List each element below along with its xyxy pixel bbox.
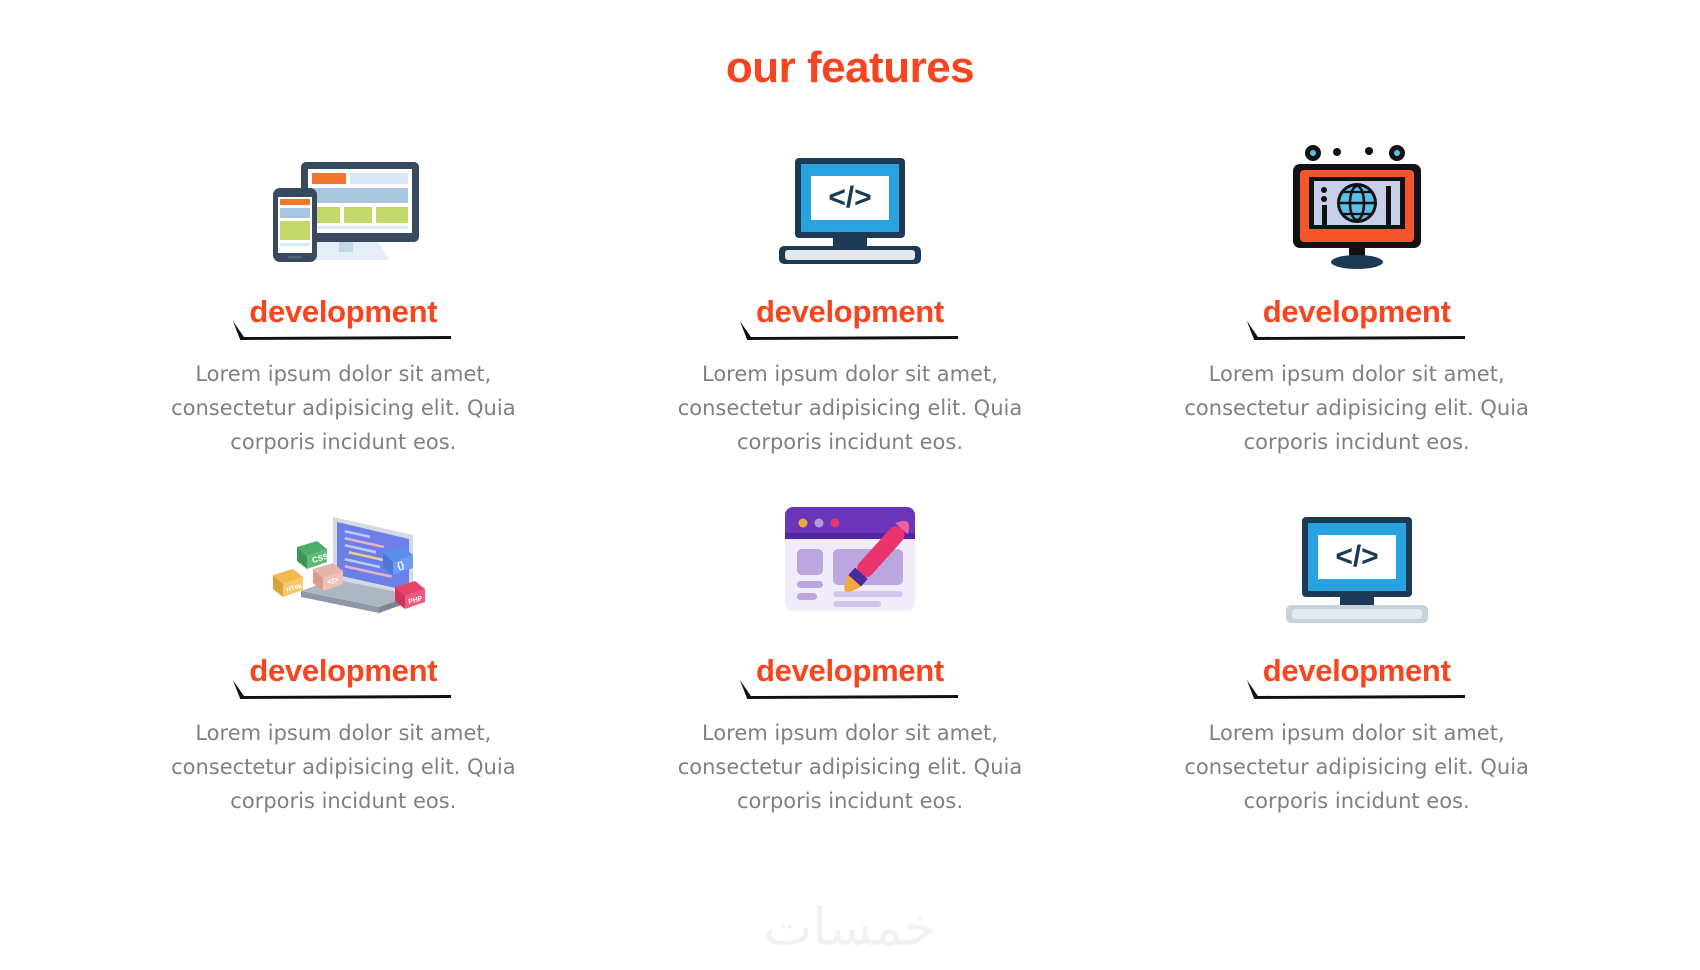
feature-card[interactable]: development Lorem ipsum dolor sit amet, … xyxy=(90,142,597,459)
card-title-wrap: development xyxy=(756,655,944,702)
card-title[interactable]: development xyxy=(249,655,437,686)
card-title[interactable]: development xyxy=(756,296,944,327)
browser-paintbrush-design-icon xyxy=(775,501,925,631)
code-glyph-text: </> xyxy=(828,181,871,214)
badge-css: CSS xyxy=(297,541,330,569)
features-section-page: our features xyxy=(0,0,1700,970)
card-title[interactable]: development xyxy=(1263,296,1451,327)
watermark: خمسات xyxy=(0,898,1700,958)
feature-card[interactable]: </> development Lorem ipsum dolor sit am… xyxy=(1103,501,1610,818)
card-title[interactable]: development xyxy=(1263,655,1451,686)
card-title-wrap: development xyxy=(1263,296,1451,343)
feature-card[interactable]: </> development Lorem ipsum dolor sit am… xyxy=(597,142,1104,459)
features-grid: development Lorem ipsum dolor sit amet, … xyxy=(90,90,1610,818)
card-description: Lorem ipsum dolor sit amet, consectetur … xyxy=(168,716,518,818)
card-description: Lorem ipsum dolor sit amet, consectetur … xyxy=(1182,716,1532,818)
laptop-code-icon: </> xyxy=(775,142,925,272)
card-title-wrap: development xyxy=(249,655,437,702)
card-title-wrap: development xyxy=(249,296,437,343)
feature-card[interactable]: development Lorem ipsum dolor sit amet, … xyxy=(597,501,1104,818)
feature-card[interactable]: development Lorem ipsum dolor sit amet, … xyxy=(1103,142,1610,459)
card-title[interactable]: development xyxy=(249,296,437,327)
feature-card[interactable]: CSS </> HTML xyxy=(90,501,597,818)
responsive-web-design-icon xyxy=(261,142,426,272)
card-description: Lorem ipsum dolor sit amet, consectetur … xyxy=(1182,357,1532,459)
card-title[interactable]: development xyxy=(756,655,944,686)
card-description: Lorem ipsum dolor sit amet, consectetur … xyxy=(675,357,1025,459)
isometric-laptop-coding-icon: CSS </> HTML xyxy=(261,501,426,631)
card-description: Lorem ipsum dolor sit amet, consectetur … xyxy=(168,357,518,459)
card-title-wrap: development xyxy=(1263,655,1451,702)
monitor-globe-web-icon xyxy=(1287,142,1427,272)
code-glyph-text: </> xyxy=(1335,540,1378,573)
page-title: our features xyxy=(0,0,1700,90)
card-description: Lorem ipsum dolor sit amet, consectetur … xyxy=(675,716,1025,818)
laptop-code-icon: </> xyxy=(1282,501,1432,631)
card-title-wrap: development xyxy=(756,296,944,343)
badge-html: HTML xyxy=(273,569,305,597)
